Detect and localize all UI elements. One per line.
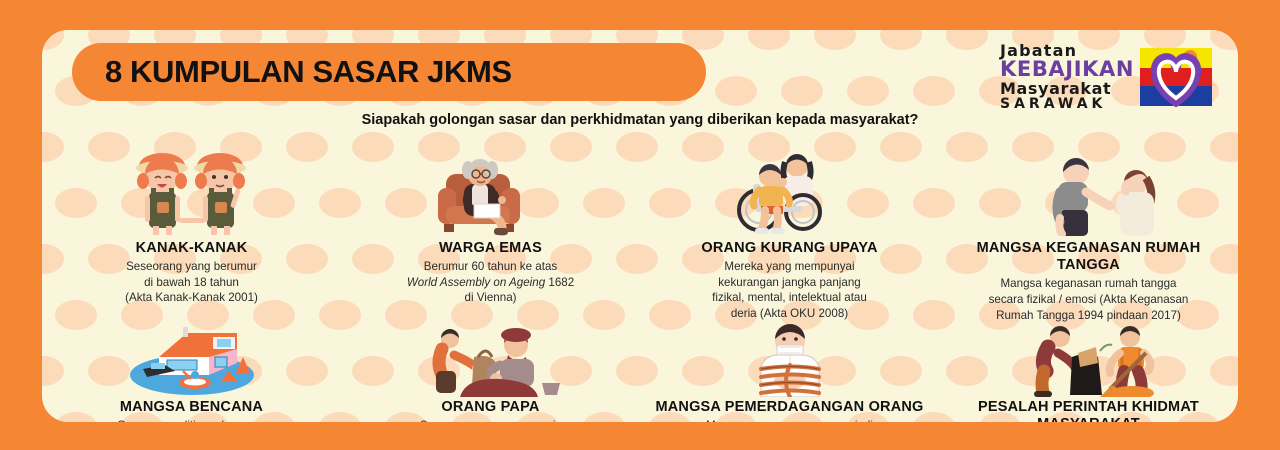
background-dot [748,30,790,50]
background-dot [946,30,988,50]
card-body: Orang yang ditimpa bencana atau mala pet… [117,418,266,422]
card-title: KANAK-KANAK [136,240,248,257]
bound-person-icon [710,323,870,397]
reference-year: 1682 [545,276,574,289]
card-title: MANGSA BENCANA [120,399,263,416]
card-title: MANGSA PEMERDAGANGAN ORANG [655,399,923,416]
infographic-poster: 8 KUMPULAN SASAR JKMS Jabatan KEBAJIKAN … [0,0,1280,450]
content-panel: 8 KUMPULAN SASAR JKMS Jabatan KEBAJIKAN … [42,30,1238,422]
background-dot [814,30,856,50]
logo-line-sarawak: SARAWAK [1000,97,1134,111]
card-mangsa-pemerdagangan-orang: MANGSA PEMERDAGANGAN ORANG Mana-mana ora… [640,323,939,422]
domestic-violence-icon [1009,148,1169,236]
two-children-icon [112,148,272,236]
homeless-person-icon [411,323,571,397]
community-service-icon [1009,323,1169,397]
card-body: Seseorang yang berumur di bawah 18 tahun… [125,259,258,306]
wheelchair-user-icon [710,148,870,236]
logo-wordmark: Jabatan KEBAJIKAN Masyarakat SARAWAK [1000,43,1134,111]
card-title: WARGA EMAS [439,240,542,257]
logo-line-masyarakat: Masyarakat [1000,81,1134,97]
card-title: MANGSA KEGANASAN RUMAH TANGGA [947,240,1230,274]
background-dot [913,76,955,106]
jkms-logo: Jabatan KEBAJIKAN Masyarakat SARAWAK [1000,38,1218,116]
card-mangsa-bencana: MANGSA BENCANA Orang yang ditimpa bencan… [42,323,341,422]
background-dot [42,30,64,50]
card-pesalah-perintah-khidmat-masyarakat: PESALAH PERINTAH KHIDMAT MASYARAKAT Pesa… [939,323,1238,422]
card-body: Mana-mana orang yang menjadi mangsa atau… [686,418,893,422]
card-mangsa-keganasan-rumah-tangga: MANGSA KEGANASAN RUMAH TANGGA Mangsa keg… [939,148,1238,323]
elderly-woman-armchair-icon [411,148,571,236]
card-title: ORANG KURANG UPAYA [701,240,877,257]
card-orang-kurang-upaya: ORANG KURANG UPAYA Mereka yang mempunyai… [640,148,939,323]
logo-line-kebajikan: KEBAJIKAN [1000,59,1134,80]
card-body: Berumur 60 tahun ke atas World Assembly … [407,259,574,306]
italic-reference: World Assembly on Ageing [407,276,545,289]
card-body: Seseorang yang mengemis atau meleser di … [411,418,570,422]
background-dot [847,76,889,106]
title-banner: 8 KUMPULAN SASAR JKMS [72,43,706,101]
heart-logo-icon [1138,46,1214,108]
card-body: Mereka yang mempunyai kekurangan jangka … [712,259,867,322]
page-title: 8 KUMPULAN SASAR JKMS [72,54,512,90]
card-title: ORANG PAPA [441,399,539,416]
flooded-house-icon [112,323,272,397]
card-orang-papa: ORANG PAPA Seseorang yang mengemis atau … [341,323,640,422]
card-warga-emas: WARGA EMAS Berumur 60 tahun ke atas Worl… [341,148,640,323]
background-dot [781,76,823,106]
background-dot [880,30,922,50]
target-groups-grid: KANAK-KANAK Seseorang yang berumur di ba… [42,148,1238,422]
background-dot [715,76,757,106]
card-title: PESALAH PERINTAH KHIDMAT MASYARAKAT [947,399,1230,422]
card-kanak-kanak: KANAK-KANAK Seseorang yang berumur di ba… [42,148,341,323]
card-body: Mangsa keganasan rumah tangga secara fiz… [989,276,1189,323]
